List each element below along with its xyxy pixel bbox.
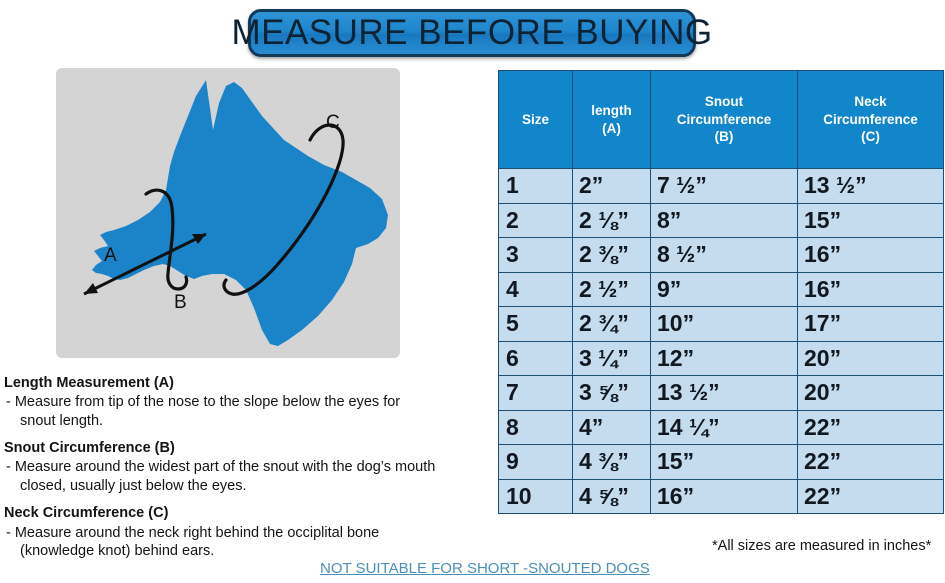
label-b: B [174, 292, 187, 313]
cell-length: 4 ⅝” [573, 479, 651, 514]
table-header-row: Size length (A) Snout Circumference (B) … [499, 71, 944, 169]
header-line-2: Circumference [654, 111, 794, 129]
cell-size: 4 [499, 272, 573, 307]
dog-head-diagram-panel: A B C [56, 68, 400, 358]
cell-length: 2 ¾” [573, 307, 651, 342]
instruction-heading-neck: Neck Circumference (C) [4, 504, 490, 522]
cell-size: 1 [499, 169, 573, 204]
cell-length: 2” [573, 169, 651, 204]
cell-size: 3 [499, 238, 573, 273]
cell-neck-circumference: 17” [798, 307, 944, 342]
table-row: 73 ⅝”13 ½”20” [499, 376, 944, 411]
table-row: 22 ⅛”8”15” [499, 203, 944, 238]
cell-length: 4 ⅜” [573, 445, 651, 480]
header-line-1: Neck [801, 93, 940, 111]
instruction-block-length: Length Measurement (A) - Measure from ti… [4, 374, 490, 430]
label-a: A [104, 245, 117, 266]
cell-size: 10 [499, 479, 573, 514]
cell-length: 3 ⅝” [573, 376, 651, 411]
instruction-line-1: - Measure around the neck right behind t… [6, 525, 379, 541]
cell-length: 2 ⅜” [573, 238, 651, 273]
header-line-3: (C) [801, 128, 940, 146]
size-chart-head: Size length (A) Snout Circumference (B) … [499, 71, 944, 169]
cell-size: 7 [499, 376, 573, 411]
instruction-block-snout: Snout Circumference (B) - Measure around… [4, 439, 490, 495]
instruction-block-neck: Neck Circumference (C) - Measure around … [4, 504, 490, 560]
label-c: C [326, 112, 340, 133]
cell-snout-circumference: 10” [651, 307, 798, 342]
cell-size: 5 [499, 307, 573, 342]
column-header-snout-circumference: Snout Circumference (B) [651, 71, 798, 169]
cell-snout-circumference: 16” [651, 479, 798, 514]
table-row: 84”14 ¼”22” [499, 410, 944, 445]
cell-neck-circumference: 15” [798, 203, 944, 238]
cell-size: 9 [499, 445, 573, 480]
table-row: 104 ⅝”16”22” [499, 479, 944, 514]
instruction-line-2: snout length. [6, 412, 490, 431]
cell-size: 2 [499, 203, 573, 238]
instruction-heading-snout: Snout Circumference (B) [4, 439, 490, 457]
dog-head-svg: A B C [56, 68, 400, 358]
instruction-body-length: - Measure from tip of the nose to the sl… [4, 393, 490, 430]
column-header-length: length (A) [573, 71, 651, 169]
cell-snout-circumference: 8 ½” [651, 238, 798, 273]
cell-size: 6 [499, 341, 573, 376]
cell-snout-circumference: 8” [651, 203, 798, 238]
instruction-heading-length: Length Measurement (A) [4, 374, 490, 392]
not-suitable-note: NOT SUITABLE FOR SHORT -SNOUTED DOGS [320, 560, 650, 577]
table-row: 52 ¾”10”17” [499, 307, 944, 342]
cell-snout-circumference: 12” [651, 341, 798, 376]
page-title-banner: MEASURE BEFORE BUYING [248, 9, 696, 57]
table-row: 63 ¼”12”20” [499, 341, 944, 376]
cell-length: 2 ⅛” [573, 203, 651, 238]
cell-neck-circumference: 22” [798, 479, 944, 514]
cell-neck-circumference: 16” [798, 272, 944, 307]
instruction-line-2: (knowledge knot) behind ears. [6, 542, 490, 561]
instruction-line-1: - Measure from tip of the nose to the sl… [6, 394, 400, 410]
cell-neck-circumference: 22” [798, 410, 944, 445]
size-chart-body: 12”7 ½”13 ½”22 ⅛”8”15”32 ⅜”8 ½”16”42 ½”9… [499, 169, 944, 514]
cell-length: 4” [573, 410, 651, 445]
cell-neck-circumference: 16” [798, 238, 944, 273]
cell-neck-circumference: 13 ½” [798, 169, 944, 204]
cell-snout-circumference: 9” [651, 272, 798, 307]
cell-length: 2 ½” [573, 272, 651, 307]
units-note: *All sizes are measured in inches* [712, 538, 931, 554]
column-header-neck-circumference: Neck Circumference (C) [798, 71, 944, 169]
size-chart-table: Size length (A) Snout Circumference (B) … [498, 70, 944, 514]
dog-head-silhouette [92, 80, 388, 346]
instruction-line-2: closed, usually just below the eyes. [6, 477, 490, 496]
cell-length: 3 ¼” [573, 341, 651, 376]
header-line-2: (A) [576, 120, 647, 138]
header-line-1: Size [502, 111, 569, 129]
header-line-2: Circumference [801, 111, 940, 129]
header-line-3: (B) [654, 128, 794, 146]
header-line-1: length [576, 102, 647, 120]
cell-neck-circumference: 20” [798, 341, 944, 376]
cell-neck-circumference: 22” [798, 445, 944, 480]
cell-neck-circumference: 20” [798, 376, 944, 411]
cell-snout-circumference: 13 ½” [651, 376, 798, 411]
column-header-size: Size [499, 71, 573, 169]
instruction-body-neck: - Measure around the neck right behind t… [4, 524, 490, 561]
table-row: 32 ⅜”8 ½”16” [499, 238, 944, 273]
measurement-instructions: Length Measurement (A) - Measure from ti… [4, 374, 490, 570]
cell-snout-circumference: 7 ½” [651, 169, 798, 204]
instruction-body-snout: - Measure around the widest part of the … [4, 458, 490, 495]
table-row: 12”7 ½”13 ½” [499, 169, 944, 204]
page-title: MEASURE BEFORE BUYING [231, 13, 712, 53]
cell-snout-circumference: 15” [651, 445, 798, 480]
cell-snout-circumference: 14 ¼” [651, 410, 798, 445]
table-row: 94 ⅜”15”22” [499, 445, 944, 480]
header-line-1: Snout [654, 93, 794, 111]
table-row: 42 ½”9”16” [499, 272, 944, 307]
cell-size: 8 [499, 410, 573, 445]
instruction-line-1: - Measure around the widest part of the … [6, 459, 435, 475]
